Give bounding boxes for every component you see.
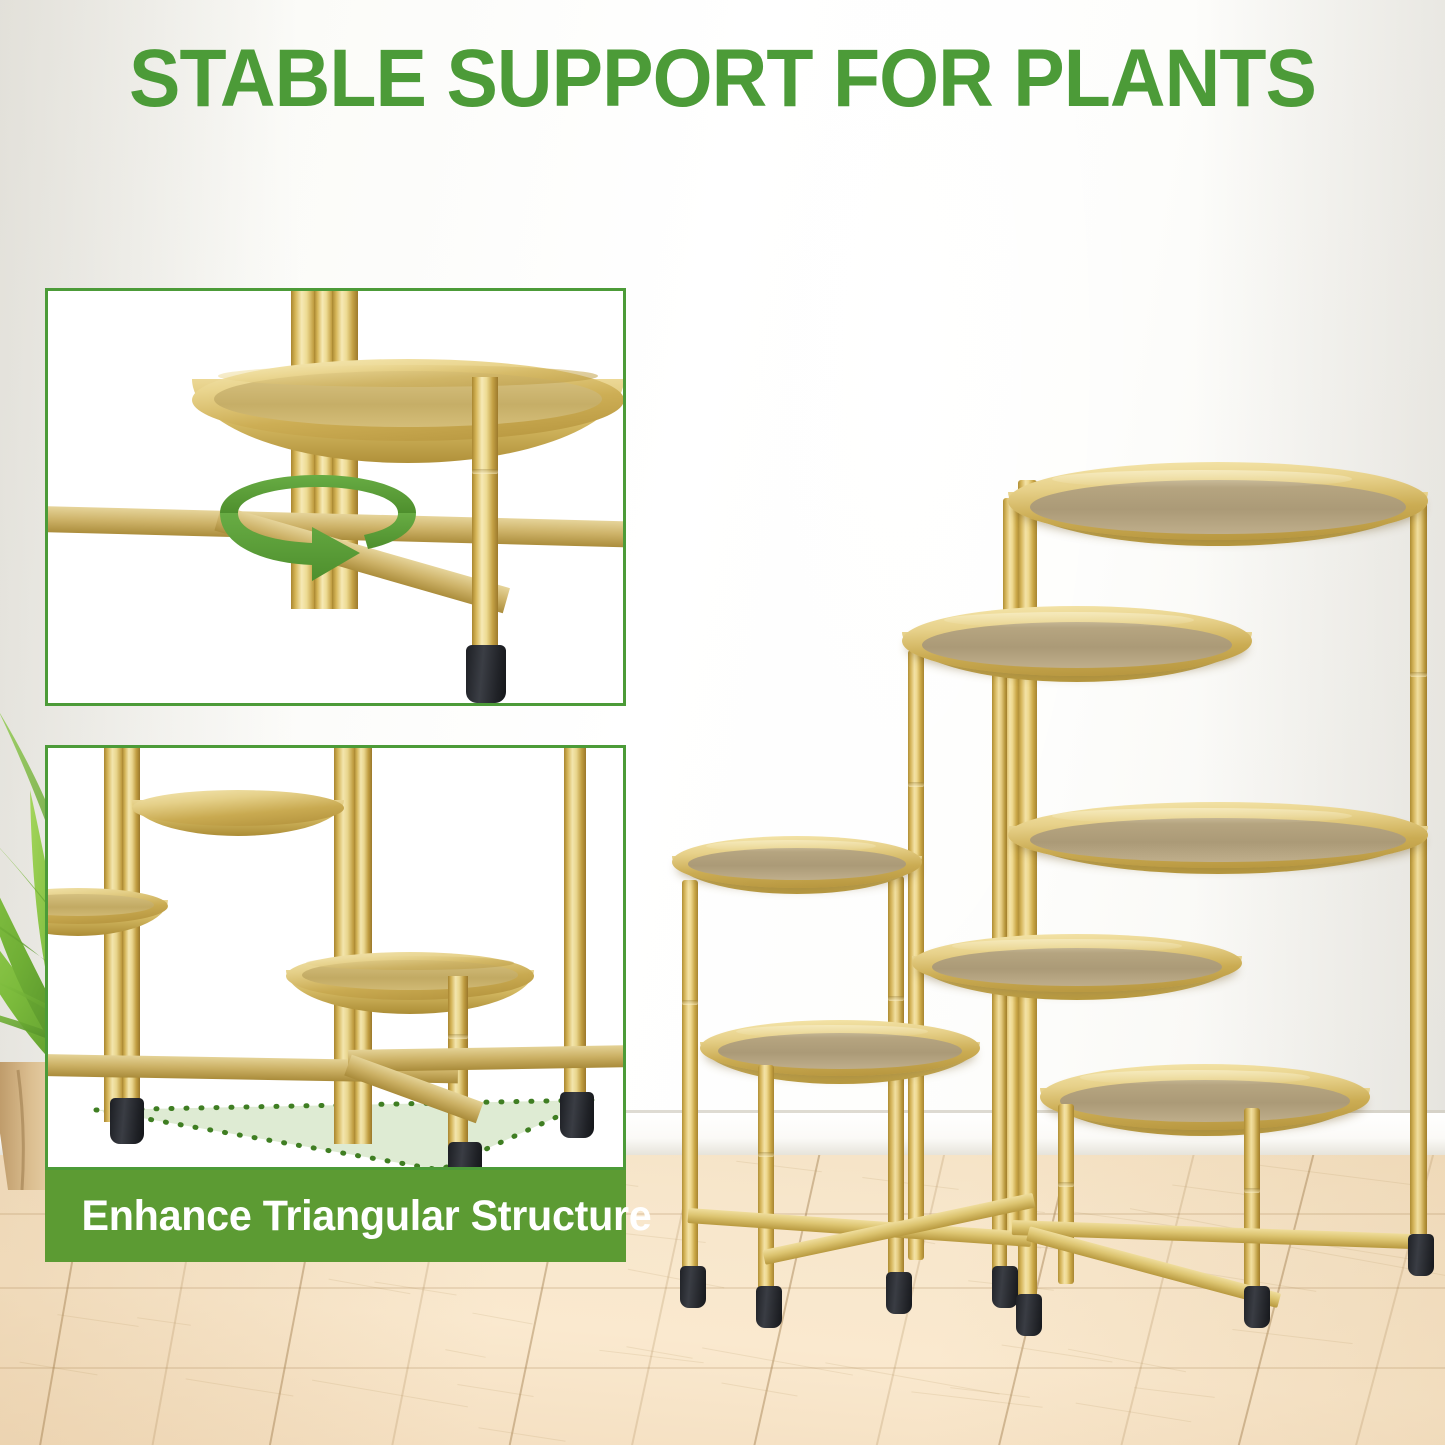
foot-cap-6 bbox=[1244, 1286, 1270, 1328]
post-tier1-left bbox=[1058, 1104, 1074, 1284]
tray-tier-lower-left bbox=[700, 1020, 980, 1104]
tray-tier-5 bbox=[1008, 462, 1428, 572]
inset2-shelf-top-rim bbox=[132, 790, 344, 826]
caption-bar-label: Enhance Triangular Structure bbox=[45, 1192, 651, 1241]
inset1-front-leg bbox=[472, 377, 498, 671]
joint-left-outer bbox=[682, 1000, 698, 1005]
caption-bar: Enhance Triangular Structure bbox=[45, 1170, 626, 1262]
rotation-arrow-icon bbox=[208, 469, 428, 589]
foot-cap-3 bbox=[886, 1272, 912, 1314]
foot-cap-7 bbox=[1408, 1234, 1434, 1276]
joint-lowerleft-a bbox=[758, 1152, 774, 1157]
joint-tier1-right bbox=[1244, 1188, 1260, 1193]
inset-triangle-detail bbox=[45, 745, 626, 1170]
tray-tier-0 bbox=[672, 836, 922, 912]
joint-left-inner bbox=[888, 996, 904, 1001]
page-title: STABLE SUPPORT FOR PLANTS bbox=[43, 38, 1401, 120]
inset1-leg-joint bbox=[472, 469, 498, 474]
floor-plank-joint bbox=[0, 1367, 1445, 1369]
tray-tier-4 bbox=[902, 606, 1252, 706]
inset2-front-leg-joint bbox=[448, 1034, 468, 1039]
inset1-tray-highlight bbox=[218, 365, 598, 387]
inset2-foot-2 bbox=[448, 1142, 482, 1170]
inset1-foot-cap bbox=[466, 645, 506, 703]
foot-cap-2 bbox=[756, 1286, 782, 1328]
tray-tier-1 bbox=[1040, 1064, 1370, 1160]
foot-cap-4 bbox=[992, 1266, 1018, 1308]
joint-mid-left bbox=[908, 782, 924, 787]
joint-right-front bbox=[1410, 672, 1427, 677]
inset2-tray-front-highlight bbox=[306, 956, 514, 970]
tray-tier-3 bbox=[1008, 802, 1428, 898]
inset-rotate-detail bbox=[45, 288, 626, 706]
inset2-foot-1 bbox=[110, 1098, 144, 1144]
joint-tier1-left bbox=[1058, 1182, 1074, 1187]
post-tier1-right bbox=[1244, 1108, 1260, 1294]
inset2-foot-3 bbox=[560, 1092, 594, 1138]
tray-tier-2 bbox=[912, 934, 1242, 1022]
foot-cap-5 bbox=[1016, 1294, 1042, 1336]
plant-stand-product bbox=[640, 440, 1445, 1300]
foot-cap-1 bbox=[680, 1266, 706, 1308]
